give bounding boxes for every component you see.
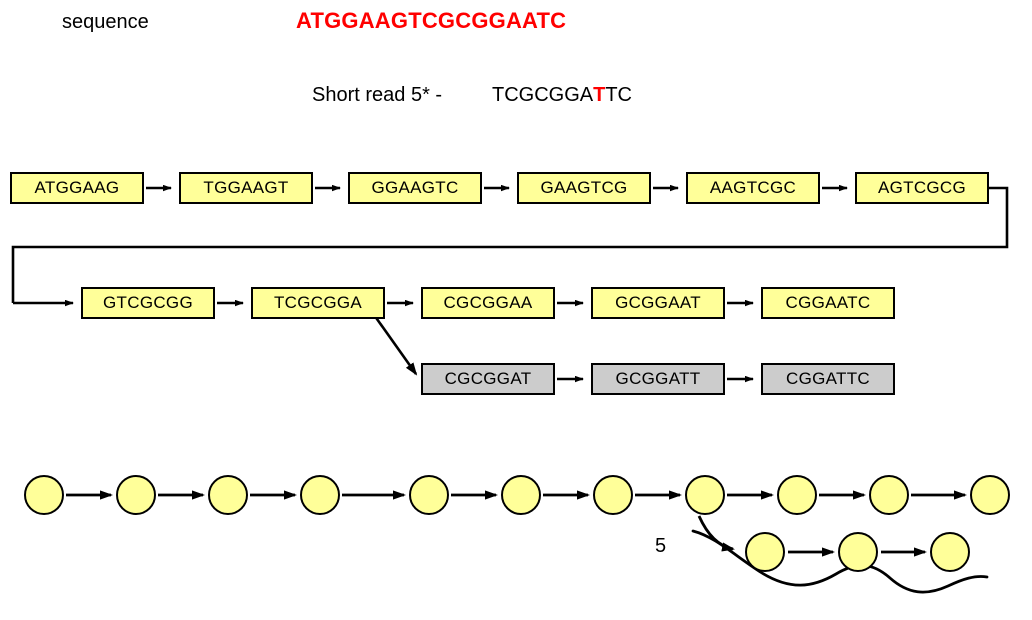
- short-read-value: TCGCGGATTC: [492, 84, 632, 107]
- sequence-value: ATGGAAGTCGCGGAATC: [296, 8, 566, 34]
- short-read-label: Short read 5* -: [312, 84, 442, 107]
- kmer-node[interactable]: GCGGAAT: [591, 287, 725, 319]
- graph-node-variant[interactable]: [930, 532, 970, 572]
- short-read-suffix: TC: [605, 84, 632, 106]
- graph-node[interactable]: [970, 475, 1010, 515]
- kmer-node[interactable]: GGAAGTC: [348, 172, 482, 204]
- graph-node-branch-point[interactable]: [685, 475, 725, 515]
- graph-node-variant[interactable]: [838, 532, 878, 572]
- bubble-branch-arrow: [699, 516, 733, 549]
- branch-label: 5: [655, 535, 666, 558]
- graph-node[interactable]: [300, 475, 340, 515]
- kmer-node[interactable]: TCGCGGA: [251, 287, 385, 319]
- kmer-node[interactable]: CGCGGAA: [421, 287, 555, 319]
- graph-node-variant[interactable]: [745, 532, 785, 572]
- kmer-node[interactable]: GTCGCGG: [81, 287, 215, 319]
- kmer-node[interactable]: AAGTCGC: [686, 172, 820, 204]
- graph-node[interactable]: [869, 475, 909, 515]
- graph-node[interactable]: [208, 475, 248, 515]
- kmer-node[interactable]: CGGAATC: [761, 287, 895, 319]
- variant-kmer-node[interactable]: CGGATTC: [761, 363, 895, 395]
- graph-node[interactable]: [593, 475, 633, 515]
- wraparound-connector: [13, 188, 1007, 303]
- variant-branch-arrow: [372, 312, 416, 374]
- graph-node[interactable]: [409, 475, 449, 515]
- sequence-label: sequence: [62, 11, 149, 34]
- kmer-node[interactable]: AGTCGCG: [855, 172, 989, 204]
- variant-kmer-node[interactable]: CGCGGAT: [421, 363, 555, 395]
- graph-node[interactable]: [116, 475, 156, 515]
- kmer-node[interactable]: TGGAAGT: [179, 172, 313, 204]
- short-read-mutation: T: [593, 84, 605, 106]
- graph-node[interactable]: [777, 475, 817, 515]
- kmer-node[interactable]: ATGGAAG: [10, 172, 144, 204]
- graph-node[interactable]: [501, 475, 541, 515]
- diagram-canvas: sequence ATGGAAGTCGCGGAATC Short read 5*…: [0, 0, 1032, 620]
- kmer-node[interactable]: GAAGTCG: [517, 172, 651, 204]
- short-read-prefix: TCGCGGA: [492, 84, 593, 106]
- variant-kmer-node[interactable]: GCGGATT: [591, 363, 725, 395]
- graph-node[interactable]: [24, 475, 64, 515]
